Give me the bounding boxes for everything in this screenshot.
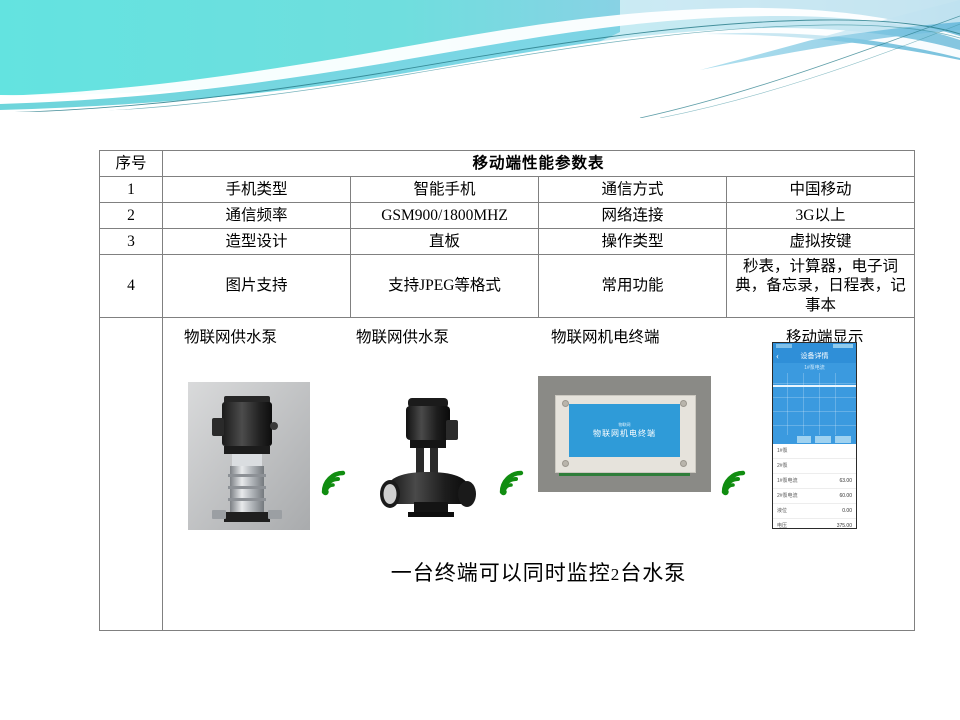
chart-gridline: [773, 397, 856, 398]
list-item-label: 1#泵: [777, 448, 788, 454]
row-index: 1: [100, 177, 163, 203]
list-item-value: 60.00: [839, 493, 852, 499]
terminal-screw: [680, 460, 687, 467]
row-field-name2: 通信方式: [539, 177, 727, 203]
pump-image-1: [188, 382, 310, 530]
list-item-label: 1#泵电流: [777, 478, 798, 484]
list-item-label: 2#泵: [777, 463, 788, 469]
row-field-name: 图片支持: [163, 255, 351, 318]
chart-gridline: [773, 425, 856, 426]
wifi-signal-icon: [318, 468, 352, 498]
label-pump-1: 物联网供水泵: [184, 328, 277, 347]
phone-chart-buttons: [773, 435, 856, 444]
pump-image-2: [368, 386, 488, 528]
row-field-value: GSM900/1800MHZ: [351, 203, 539, 229]
chart-gridline: [773, 383, 856, 384]
list-item-label: 2#泵电流: [777, 493, 798, 499]
phone-chart-area: [773, 373, 856, 435]
row-field-name2: 网络连接: [539, 203, 727, 229]
chart-gridline: [819, 373, 820, 435]
diagram-cell: 物联网供水泵 物联网供水泵 物联网机电终端 移动端显示: [163, 318, 915, 631]
chart-series-line: [773, 385, 856, 387]
row-field-name2: 常用功能: [539, 255, 727, 318]
chart-gridline: [835, 373, 836, 435]
label-pump-2: 物联网供水泵: [356, 328, 449, 347]
row-index: 3: [100, 229, 163, 255]
terminal-plate-text: 物联网机电终端: [593, 429, 656, 439]
diagram-caption: 一台终端可以同时监控2台水泵: [166, 560, 911, 586]
status-icons: [833, 344, 853, 348]
row-field-name2: 操作类型: [539, 229, 727, 255]
table-title: 移动端性能参数表: [163, 151, 915, 177]
table-row: 1 手机类型 智能手机 通信方式 中国移动: [100, 177, 915, 203]
table-row: 3 造型设计 直板 操作类型 虚拟按键: [100, 229, 915, 255]
chart-range-button[interactable]: [815, 436, 831, 443]
row-field-name: 造型设计: [163, 229, 351, 255]
chart-range-button[interactable]: [835, 436, 851, 443]
terminal-logo-text: 物联网: [618, 422, 630, 427]
list-item-label: 液位: [777, 508, 787, 514]
list-item-value: 375.00: [837, 523, 852, 529]
caption-suffix: 台水泵: [620, 561, 686, 585]
row-field-value: 智能手机: [351, 177, 539, 203]
phone-header-title: 设备详情: [773, 350, 856, 363]
mobile-spec-table: 序号 移动端性能参数表 1 手机类型 智能手机 通信方式 中国移动 2 通信频率…: [99, 150, 915, 631]
row-index: 4: [100, 255, 163, 318]
row-field-value2: 虚拟按键: [727, 229, 915, 255]
table-row: 4 图片支持 支持JPEG等格式 常用功能 秒表，计算器，电子词典，备忘录，日程…: [100, 255, 915, 318]
chart-range-button[interactable]: [797, 436, 811, 443]
diagram-empty-index: [100, 318, 163, 631]
wifi-signal-icon: [718, 468, 752, 498]
diagram-row: 物联网供水泵 物联网供水泵 物联网机电终端 移动端显示: [100, 318, 915, 631]
label-terminal: 物联网机电终端: [551, 328, 660, 347]
list-item[interactable]: 电压375.00: [773, 519, 856, 529]
phone-status-bar: [773, 343, 856, 350]
row-index: 2: [100, 203, 163, 229]
list-item-label: 电压: [777, 523, 787, 529]
list-item[interactable]: 2#泵电流60.00: [773, 489, 856, 504]
status-carrier: [776, 344, 792, 348]
decorative-wave-banner: [0, 0, 960, 118]
chart-gridline: [803, 373, 804, 435]
caption-number: 2: [611, 565, 621, 584]
list-item[interactable]: 1#泵: [773, 444, 856, 459]
caption-prefix: 一台终端可以同时监控: [391, 561, 611, 585]
row-field-value: 直板: [351, 229, 539, 255]
table-row: 2 通信频率 GSM900/1800MHZ 网络连接 3G以上: [100, 203, 915, 229]
row-field-name: 手机类型: [163, 177, 351, 203]
chart-gridline: [773, 411, 856, 412]
header-index: 序号: [100, 151, 163, 177]
phone-app-header: ‹ 设备详情: [773, 350, 856, 363]
chart-gridline: [787, 373, 788, 435]
terminal-image: 物联网 物联网机电终端: [538, 376, 711, 492]
row-field-value2: 秒表，计算器，电子词典，备忘录，日程表，记事本: [727, 255, 915, 318]
row-field-name: 通信频率: [163, 203, 351, 229]
table-header-row: 序号 移动端性能参数表: [100, 151, 915, 177]
wifi-signal-icon: [496, 468, 530, 498]
list-item[interactable]: 2#泵: [773, 459, 856, 474]
mobile-screenshot: ‹ 设备详情 1#泵电流: [772, 342, 857, 529]
list-item[interactable]: 1#泵电流63.00: [773, 474, 856, 489]
terminal-screw: [562, 460, 569, 467]
row-field-value2: 中国移动: [727, 177, 915, 203]
phone-chart-subtitle: 1#泵电流: [773, 363, 856, 373]
list-item[interactable]: 液位0.00: [773, 504, 856, 519]
list-item-value: 63.00: [839, 478, 852, 484]
phone-data-list: 1#泵 2#泵 1#泵电流63.00 2#泵电流60.00 液位0.00 电压3…: [773, 444, 856, 529]
row-field-value2: 3G以上: [727, 203, 915, 229]
row-field-value: 支持JPEG等格式: [351, 255, 539, 318]
terminal-label-plate: 物联网 物联网机电终端: [569, 404, 680, 457]
list-item-value: 0.00: [842, 508, 852, 514]
